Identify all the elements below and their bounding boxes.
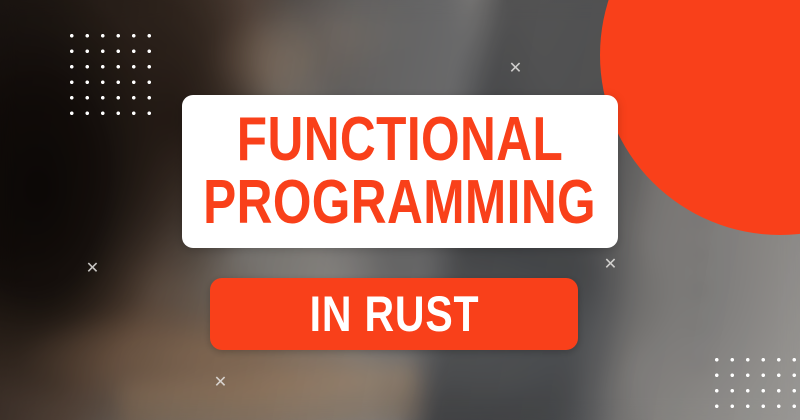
- x-mark-icon: ✕: [508, 61, 523, 76]
- subtitle-badge-label: IN RUST: [309, 289, 479, 339]
- x-mark-icon: ✕: [85, 261, 100, 276]
- subtitle-badge: IN RUST: [210, 278, 578, 350]
- title-line-2: PROGRAMMING: [204, 173, 597, 234]
- title-card: FUNCTIONAL PROGRAMMING: [182, 95, 618, 248]
- dot-grid-bottom-right: [708, 351, 800, 420]
- x-mark-icon: ✕: [213, 375, 228, 390]
- title-line-1: FUNCTIONAL: [237, 110, 563, 171]
- article-banner: ✕ ✕ ✕ ✕ FUNCTIONAL PROGRAMMING IN RUST: [0, 0, 800, 420]
- x-mark-icon: ✕: [603, 257, 618, 272]
- dot-grid-top-left: [63, 27, 160, 124]
